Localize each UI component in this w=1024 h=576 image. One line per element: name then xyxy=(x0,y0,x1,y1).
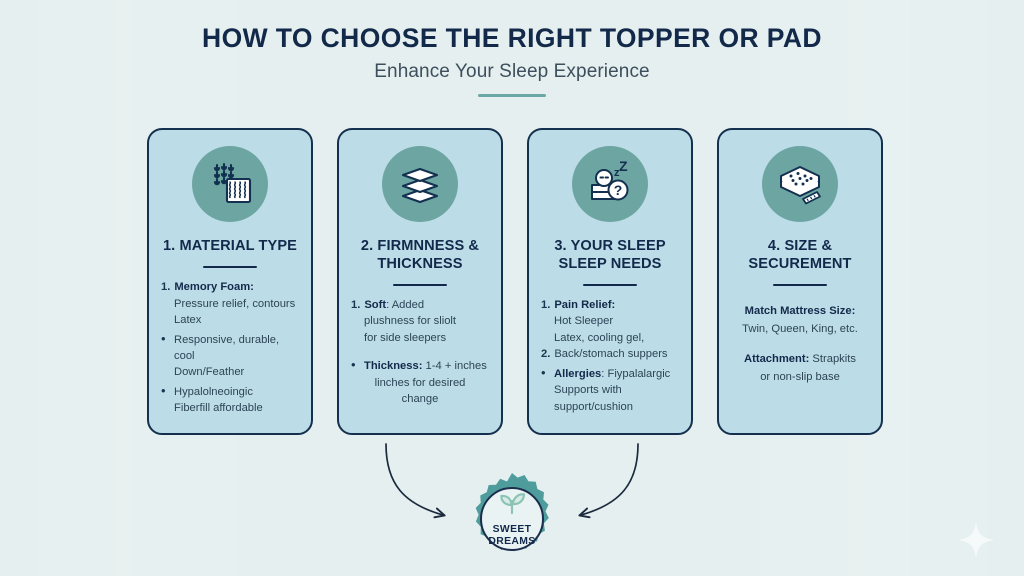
list-item: 1. Pain Relief: xyxy=(541,297,679,313)
card-firmness-thickness[interactable]: 2. FIRMNNESS & THICKNESS 1. Soft: Added … xyxy=(337,128,503,435)
list-item: Match Mattress Size: xyxy=(731,303,869,319)
list-subline: Pressure relief, contours xyxy=(161,296,299,312)
list-item: • Hypalolneoingic xyxy=(161,381,299,400)
card-divider xyxy=(203,266,257,268)
bullet-rest: Strapkits xyxy=(809,353,856,365)
bullet-rest: 1-4 + inches xyxy=(422,360,486,372)
bullet-rest: Hypalolneoingic xyxy=(174,386,253,398)
bullet-text: Soft: Added xyxy=(364,297,489,313)
bullet-lead: Soft xyxy=(364,299,386,311)
card-body: 1. Memory Foam: Pressure relief, contour… xyxy=(158,279,302,417)
spacer xyxy=(351,346,489,355)
badge-label: SWEET DREAMS xyxy=(464,524,560,549)
bullet-text: Memory Foam: xyxy=(174,279,299,295)
bullet-rest: Back/stomach suppers xyxy=(554,348,667,360)
badge-line-1: SWEET xyxy=(464,524,560,536)
list-subline: linches for desired xyxy=(351,375,489,391)
bullet-marker: 2. xyxy=(541,346,550,362)
card-body: 1. Soft: Added plushness for sliolt for … xyxy=(348,297,492,408)
bullet-marker: 1. xyxy=(351,297,360,313)
bullet-marker: • xyxy=(161,381,170,400)
badge-line-2: DREAMS xyxy=(464,536,560,548)
card-material-type[interactable]: 1. MATERIAL TYPE 1. Memory Foam: Pressur… xyxy=(147,128,313,435)
card-size-securement[interactable]: 4. SIZE & SECUREMENT Match Mattress Size… xyxy=(717,128,883,435)
card-divider xyxy=(773,284,827,286)
sweet-dreams-badge[interactable]: SWEET DREAMS xyxy=(464,471,560,567)
list-subline: Twin, Queen, King, etc. xyxy=(731,321,869,337)
title-divider xyxy=(478,94,546,97)
list-item: • Responsive, durable, cool xyxy=(161,329,299,365)
card-divider xyxy=(583,284,637,286)
memory-foam-texture-icon xyxy=(192,146,268,222)
sleeping-person-question-icon: ? z Z xyxy=(572,146,648,222)
list-subline: change xyxy=(351,391,489,407)
list-subline: Supports with xyxy=(541,382,679,398)
bullet-text: Thickness: 1-4 + inches xyxy=(364,358,489,374)
list-item: 2. Back/stomach suppers xyxy=(541,346,679,362)
list-item: 1. Soft: Added xyxy=(351,297,489,313)
bullet-marker: • xyxy=(541,363,550,382)
list-item: • Thickness: 1-4 + inches xyxy=(351,355,489,374)
bullet-text: Pain Relief: xyxy=(554,297,679,313)
svg-text:?: ? xyxy=(614,182,623,198)
bullet-lead: Pain Relief: xyxy=(554,299,615,311)
bullet-text: Hypalolneoingic xyxy=(174,384,299,400)
bullet-lead: Allergies xyxy=(554,368,601,380)
list-subline: plushness for sliolt xyxy=(351,313,489,329)
curved-arrow-left-icon xyxy=(581,444,638,515)
list-subline: Latex, cooling gel, xyxy=(541,330,679,346)
spacer xyxy=(731,338,869,351)
list-item: 1. Memory Foam: xyxy=(161,279,299,295)
list-subline: Fiberfill affordable xyxy=(161,400,299,416)
bullet-text: Responsive, durable, cool xyxy=(174,332,299,365)
sparkle-icon xyxy=(955,519,997,561)
bullet-text: Allergies: Fiypalalargic xyxy=(554,366,679,382)
svg-text:Z: Z xyxy=(619,159,628,174)
list-subline: or non-slip base xyxy=(731,369,869,385)
card-sleep-needs[interactable]: ? z Z 3. YOUR SLEEP SLEEP NEEDS 1. Pain … xyxy=(527,128,693,435)
mattress-ruler-icon xyxy=(762,146,838,222)
card-body: 1. Pain Relief: Hot Sleeper Latex, cooli… xyxy=(538,297,682,415)
list-subline: support/cushion xyxy=(541,399,679,415)
list-subline: for side sleepers xyxy=(351,330,489,346)
stacked-layers-icon xyxy=(382,146,458,222)
card-row: 1. MATERIAL TYPE 1. Memory Foam: Pressur… xyxy=(147,128,889,435)
card-body: Match Mattress Size: Twin, Queen, King, … xyxy=(728,303,872,386)
list-item: Attachment: Strapkits xyxy=(731,351,869,367)
bullet-rest: : Fiypalalargic xyxy=(601,368,670,380)
list-subline: Latex xyxy=(161,312,299,328)
bullet-lead: Attachment: xyxy=(744,353,809,365)
card-divider xyxy=(393,284,447,286)
bullet-rest: : Added xyxy=(386,299,424,311)
page-title: HOW TO CHOOSE THE RIGHT TOPPER OR PAD xyxy=(0,24,1024,53)
card-title: 1. MATERIAL TYPE xyxy=(163,238,297,256)
curved-arrow-right-icon xyxy=(386,444,443,515)
bullet-marker: 1. xyxy=(541,297,550,313)
bullet-lead: Memory Foam: xyxy=(174,281,254,293)
bullet-text: Back/stomach suppers xyxy=(554,346,679,362)
bullet-rest: Responsive, durable, cool xyxy=(174,334,279,362)
bullet-marker: • xyxy=(161,329,170,348)
list-item: • Allergies: Fiypalalargic xyxy=(541,363,679,382)
page-subtitle: Enhance Your Sleep Experience xyxy=(0,61,1024,83)
bullet-lead: Match Mattress Size: xyxy=(745,305,856,317)
header: HOW TO CHOOSE THE RIGHT TOPPER OR PAD En… xyxy=(0,24,1024,97)
list-subline: Hot Sleeper xyxy=(541,313,679,329)
card-title: 4. SIZE & SECUREMENT xyxy=(728,238,872,274)
list-subline: Down/Feather xyxy=(161,364,299,380)
card-title: 2. FIRMNNESS & THICKNESS xyxy=(348,238,492,274)
bullet-marker: • xyxy=(351,355,360,374)
card-title: 3. YOUR SLEEP SLEEP NEEDS xyxy=(538,238,682,274)
bullet-lead: Thickness: xyxy=(364,360,422,372)
bullet-marker: 1. xyxy=(161,279,170,295)
